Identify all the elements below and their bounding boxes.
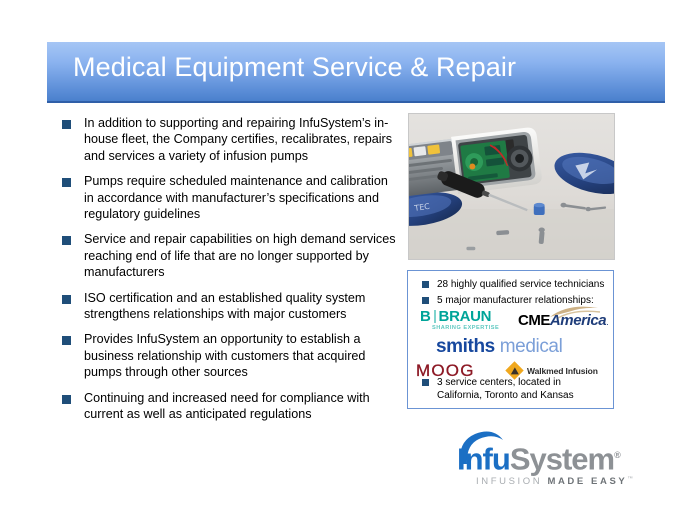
smiths-medical-logo: smiths medical <box>436 337 562 357</box>
infusystem-part-infu: Infu <box>457 441 510 476</box>
bbraun-divider-icon <box>434 310 436 323</box>
list-item: 28 highly qualified service technicians <box>422 278 604 291</box>
cme-wordmark: CMEAmerica. <box>518 313 609 330</box>
bullet-list: In addition to supporting and repairing … <box>62 115 398 432</box>
smiths-medical-word: medical <box>500 336 563 357</box>
square-bullet-icon <box>62 120 71 129</box>
panel-bullet-text: 3 service centers, located in California… <box>437 376 607 402</box>
square-bullet-icon <box>62 178 71 187</box>
cme-prefix: CME <box>518 312 550 329</box>
bullet-text: In addition to supporting and repairing … <box>84 115 398 164</box>
cme-america-logo: CMEAmerica. <box>518 305 610 331</box>
bullet-text: ISO certification and an established qua… <box>84 290 398 323</box>
list-item: ISO certification and an established qua… <box>62 290 398 323</box>
cme-period: . <box>606 317 609 327</box>
list-item: 3 service centers, located in California… <box>422 376 607 402</box>
bullet-text: Provides InfuSystem an opportunity to es… <box>84 331 398 380</box>
square-bullet-icon <box>62 336 71 345</box>
list-item: Pumps require scheduled maintenance and … <box>62 173 398 222</box>
panel-bullet-text: 28 highly qualified service technicians <box>437 278 604 291</box>
manufacturer-info-panel: 28 highly qualified service technicians … <box>407 270 614 409</box>
service-photo: TEC <box>408 113 615 260</box>
infusystem-wordmark: InfuSystem® <box>457 438 620 476</box>
bbraun-letter: B <box>420 309 431 324</box>
bbraun-wordmark: B BRAUN <box>420 309 499 324</box>
service-photo-image: TEC <box>409 114 614 260</box>
tagline-made-easy: MADE EASY <box>547 476 627 487</box>
square-bullet-icon <box>62 395 71 404</box>
bbraun-name: BRAUN <box>439 309 492 324</box>
list-item: Continuing and increased need for compli… <box>62 390 398 423</box>
list-item: In addition to supporting and repairing … <box>62 115 398 164</box>
smiths-word: smiths <box>436 336 495 357</box>
square-bullet-icon <box>62 236 71 245</box>
square-bullet-icon <box>422 281 429 288</box>
bbraun-tagline: SHARING EXPERTISE <box>432 325 499 331</box>
square-bullet-icon <box>422 379 429 386</box>
page-title: Medical Equipment Service & Repair <box>73 52 516 83</box>
slide-canvas: Medical Equipment Service & Repair In ad… <box>0 0 680 525</box>
square-bullet-icon <box>422 297 429 304</box>
walkmed-name: Walkmed Infusion <box>527 366 598 376</box>
bullet-text: Service and repair capabilities on high … <box>84 231 398 280</box>
infusystem-part-system: System <box>510 441 614 476</box>
infusystem-logo: InfuSystem® INFUSION MADE EASY™ <box>447 430 647 492</box>
tagline-infusion: INFUSION <box>476 476 547 487</box>
list-item: Provides InfuSystem an opportunity to es… <box>62 331 398 380</box>
registered-mark-icon: ® <box>614 450 620 460</box>
bullet-text: Continuing and increased need for compli… <box>84 390 398 423</box>
list-item: Service and repair capabilities on high … <box>62 231 398 280</box>
trademark-mark-icon: ™ <box>627 476 633 482</box>
cme-suffix: America <box>550 312 606 329</box>
square-bullet-icon <box>62 295 71 304</box>
bbraun-logo: B BRAUN SHARING EXPERTISE <box>420 309 499 331</box>
bullet-text: Pumps require scheduled maintenance and … <box>84 173 398 222</box>
slide-title-bar: Medical Equipment Service & Repair <box>47 42 665 103</box>
infusystem-tagline: INFUSION MADE EASY™ <box>476 476 633 487</box>
